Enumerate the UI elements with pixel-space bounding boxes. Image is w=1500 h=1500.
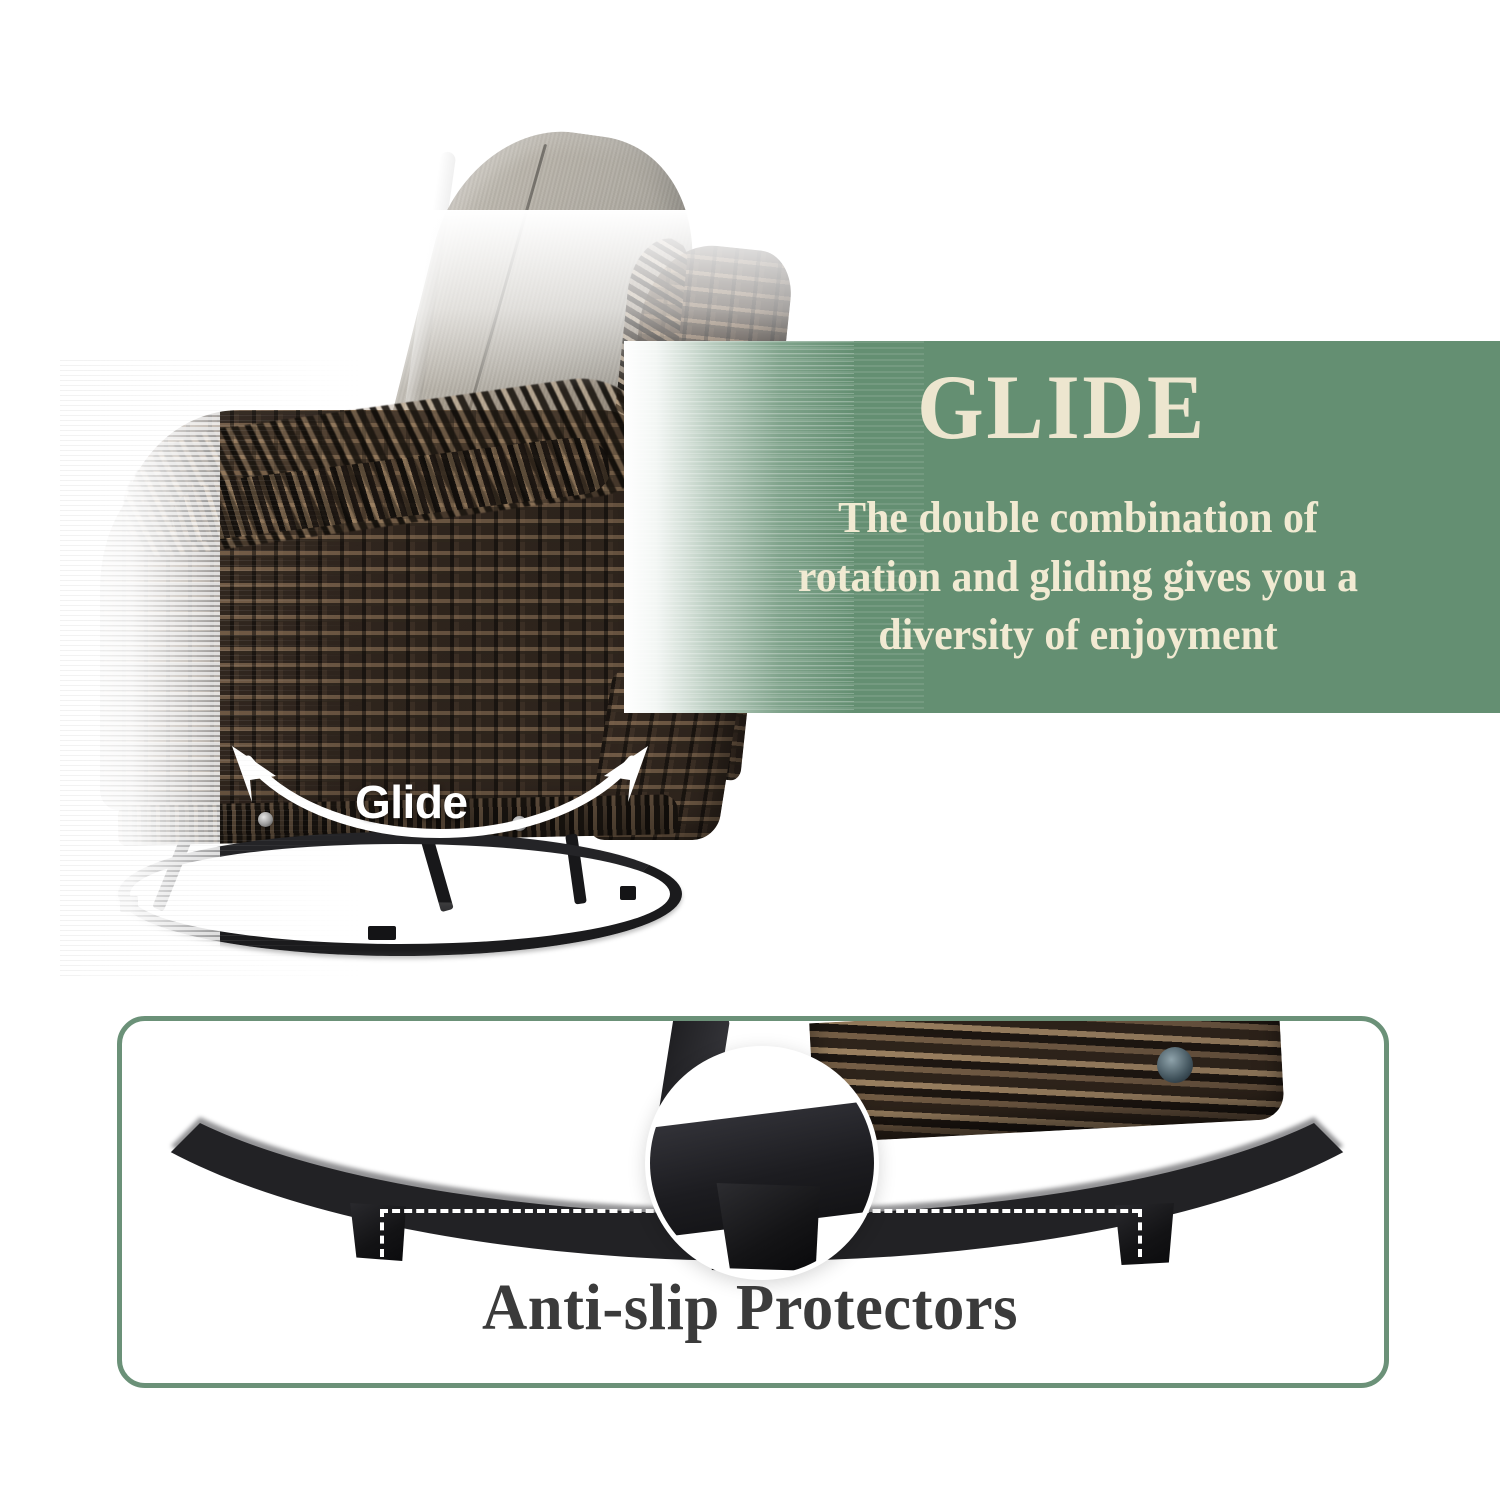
- top-feature-section: Glide GLIDE The double combination of ro…: [0, 0, 1500, 990]
- anti-slip-caption: Anti-slip Protectors: [38, 1270, 1463, 1346]
- banner-body: The double combination of rotation and g…: [704, 489, 1453, 665]
- magnifier-callout: [645, 1046, 879, 1280]
- swivel-bolt-icon: [1157, 1047, 1193, 1083]
- measure-tick-left: [380, 1209, 384, 1257]
- glide-banner-panel: GLIDE The double combination of rotation…: [624, 341, 1500, 713]
- glide-label: Glide: [355, 775, 468, 829]
- product-infographic: Glide GLIDE The double combination of ro…: [0, 0, 1500, 1500]
- base-foot-right: [620, 886, 636, 900]
- base-foot-center: [368, 926, 396, 940]
- base-foot-left: [120, 896, 138, 912]
- banner-body-line: rotation and gliding gives you a: [704, 548, 1453, 607]
- banner-body-line: The double combination of: [704, 489, 1453, 548]
- magnified-anti-slip-foot: [710, 1183, 820, 1271]
- banner-title: GLIDE: [655, 361, 1470, 453]
- measure-tick-right: [1138, 1209, 1142, 1257]
- banner-body-line: diversity of enjoyment: [704, 606, 1453, 665]
